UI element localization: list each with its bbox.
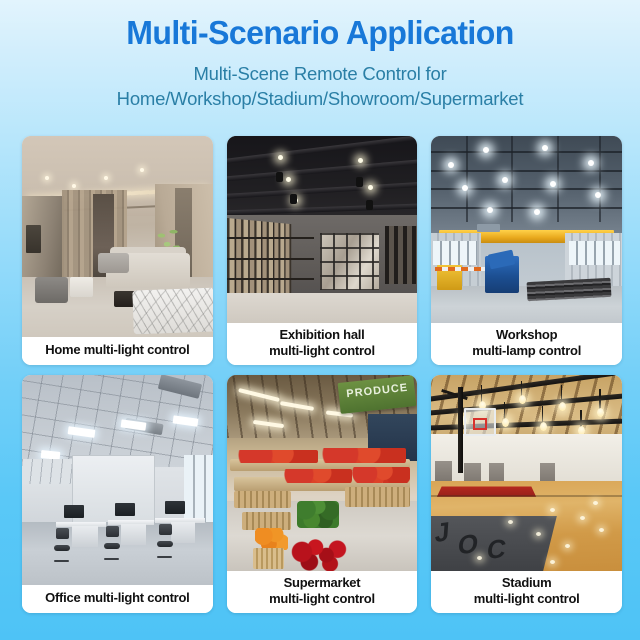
card-caption-stadium: Stadium multi-light control — [431, 571, 622, 613]
scene-image-workshop — [431, 136, 622, 323]
page-title: Multi-Scenario Application — [10, 14, 631, 53]
caption-line-1: Home multi-light control — [25, 342, 210, 358]
card-caption-supermarket: Supermarket multi-light control — [227, 571, 418, 613]
caption-line-2: multi-light control — [230, 591, 415, 607]
caption-line-1: Workshop — [434, 327, 619, 343]
scenario-card-stadium[interactable]: J O C Stadium multi-light control — [431, 375, 622, 613]
card-caption-workshop: Workshop multi-lamp control — [431, 323, 622, 365]
card-caption-office: Office multi-light control — [22, 585, 213, 613]
caption-line-2: multi-lamp control — [434, 343, 619, 359]
scenario-card-home[interactable]: Home multi-light control — [22, 136, 213, 365]
scenario-card-workshop[interactable]: Workshop multi-lamp control — [431, 136, 622, 365]
subtitle-line-1: Multi-Scene Remote Control for — [0, 62, 640, 87]
caption-line-1: Supermarket — [230, 575, 415, 591]
poster-subtitle: Multi-Scene Remote Control for Home/Work… — [0, 62, 640, 111]
caption-line-1: Office multi-light control — [25, 590, 210, 606]
card-caption-exhibition-hall: Exhibition hall multi-light control — [227, 323, 418, 365]
poster-header: Multi-Scenario Application Multi-Scene R… — [0, 0, 640, 111]
scene-image-home — [22, 136, 213, 337]
scene-image-office — [22, 375, 213, 585]
caption-line-2: multi-light control — [230, 343, 415, 359]
scenario-card-exhibition-hall[interactable]: Exhibition hall multi-light control — [227, 136, 418, 365]
scene-image-exhibition-hall — [227, 136, 418, 323]
scene-image-supermarket: PRODUCE — [227, 375, 418, 571]
caption-line-2: multi-light control — [434, 591, 619, 607]
scene-image-stadium: J O C — [431, 375, 622, 571]
card-caption-home: Home multi-light control — [22, 337, 213, 365]
scenario-card-grid: Home multi-light control — [22, 136, 622, 613]
subtitle-line-2: Home/Workshop/Stadium/Showroom/Supermark… — [0, 87, 640, 112]
scenario-card-supermarket[interactable]: PRODUCE — [227, 375, 418, 613]
poster-root: Multi-Scenario Application Multi-Scene R… — [0, 0, 640, 640]
scenario-card-office[interactable]: Office multi-light control — [22, 375, 213, 613]
caption-line-1: Stadium — [434, 575, 619, 591]
caption-line-1: Exhibition hall — [230, 327, 415, 343]
